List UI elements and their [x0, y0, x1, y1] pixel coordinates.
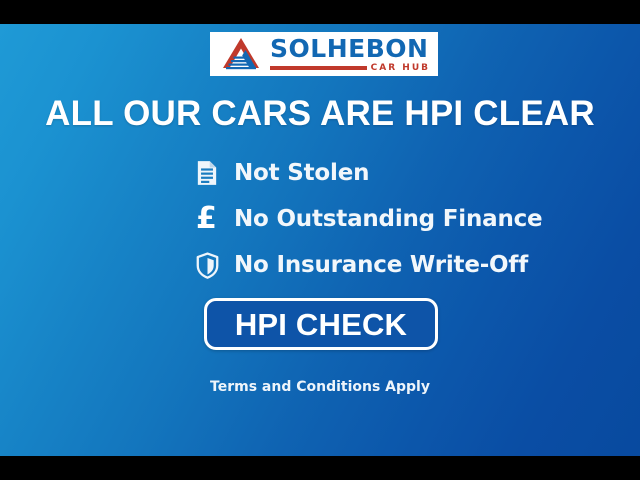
list-item-label: No Insurance Write-Off	[234, 252, 528, 278]
page-title: ALL OUR CARS ARE HPI CLEAR	[0, 94, 640, 134]
pound-sterling-icon: £	[196, 203, 226, 235]
pound-glyph: £	[196, 204, 217, 234]
letterbox-bar-top	[0, 0, 640, 24]
brand-rule	[270, 66, 367, 70]
brand-name: SOLHEBON	[270, 36, 430, 61]
letterbox-bar-bottom	[0, 456, 640, 480]
list-item: No Insurance Write-Off	[196, 242, 596, 288]
brand-logo: SOLHEBON CAR HUB	[210, 32, 438, 76]
shield-icon	[196, 249, 226, 281]
hpi-check-button-label: HPI CHECK	[235, 308, 407, 341]
hpi-check-button[interactable]: HPI CHECK	[204, 298, 438, 350]
list-item: £ No Outstanding Finance	[196, 196, 596, 242]
terms-and-conditions-note: Terms and Conditions Apply	[0, 378, 640, 396]
poster-canvas: SOLHEBON CAR HUB ALL OUR CARS ARE HPI CL…	[0, 24, 640, 456]
poster-stage: SOLHEBON CAR HUB ALL OUR CARS ARE HPI CL…	[0, 0, 640, 480]
list-item-label: Not Stolen	[234, 160, 369, 186]
document-icon	[196, 157, 226, 189]
list-item: Not Stolen	[196, 150, 596, 196]
brand-wordmark: SOLHEBON CAR HUB	[270, 36, 430, 73]
solhebon-triangle-logo-icon	[218, 37, 264, 71]
list-item-label: No Outstanding Finance	[234, 206, 542, 232]
feature-list: Not Stolen £ No Outstanding Finance No I…	[196, 150, 596, 288]
brand-tagline-row: CAR HUB	[270, 63, 430, 73]
brand-tagline: CAR HUB	[371, 63, 430, 73]
